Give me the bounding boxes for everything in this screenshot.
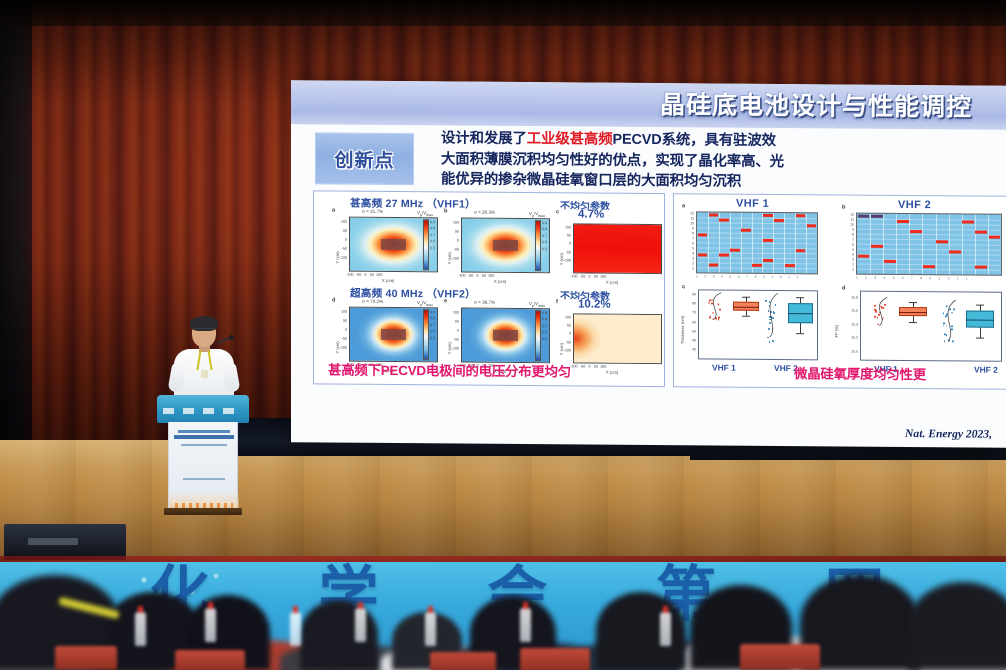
panel-letter-e: e <box>444 298 447 304</box>
panel-a-ylabel: Y (cm) <box>335 251 340 263</box>
water-bottle <box>660 612 671 646</box>
floor-monitor-speaker <box>4 524 126 560</box>
water-bottle <box>425 612 436 646</box>
panel-letter-grid-a: a <box>682 203 685 209</box>
panel-a-xticks: -100 -50 0 50 100 <box>346 273 382 277</box>
innovation-badge-label: 创新点 <box>334 145 394 172</box>
audience-head <box>300 600 378 670</box>
panel-e-cbar-title: Vp/Vmax <box>529 301 545 308</box>
grid-heatmap-vhf1 <box>696 211 818 274</box>
panel-e-sigma: σ = 36.7% <box>474 300 495 305</box>
panel-c-uniformity: 4.7% <box>578 208 604 220</box>
panel-letter-grid-b: b <box>842 205 845 211</box>
figure-left-panel: 甚高频 27 MHz （VHF1） 不均匀参数 a σ = 21.7% 1005… <box>313 190 665 387</box>
chair-back <box>175 650 245 670</box>
boxplot-c-group-1: VHF 1 <box>712 362 736 372</box>
microphone-icon <box>229 335 234 340</box>
heatmap-panel-a: a σ = 21.7% 100500-50-100 Y (cm) -100 -5… <box>332 208 440 281</box>
panel-d-sigma: σ = 70.2% <box>362 299 383 304</box>
panel-f-xlabel: X (cm) <box>606 370 618 375</box>
panel-b-cbar-title: Vp/Vmax <box>529 211 545 218</box>
body-highlight: 工业级甚高频 <box>527 131 613 148</box>
grid-a-xticks: 1234567891011 <box>696 274 805 279</box>
boxplot-ff <box>860 291 1002 362</box>
boxplot-thickness <box>698 289 818 360</box>
panel-b-xlabel: X (cm) <box>494 279 506 284</box>
boxplot-d-yticks: 25.825.625.425.225.0 <box>836 291 858 358</box>
panel-b-sigma: σ = 20.3% <box>474 210 495 215</box>
chair-back <box>520 648 590 670</box>
heatmap-panel-b: b σ = 20.3% 100500-50-100 Y (cm) -100 -5… <box>444 208 552 281</box>
water-bottle <box>355 608 366 642</box>
projection-screen: 晶硅底电池设计与性能调控 创新点 设计和发展了工业级甚高频PECVD系统，具有驻… <box>291 80 1006 448</box>
chair-back <box>430 652 496 670</box>
podium <box>157 395 249 513</box>
panel-d-ylabel: Y (cm) <box>335 341 340 353</box>
water-bottle <box>290 612 301 646</box>
panel-letter-a: a <box>332 208 335 214</box>
panel-d-cbar-ticks: 0.90.80.70.60.5 <box>430 309 435 341</box>
chair-back <box>740 644 820 670</box>
panel-c-xticks: -100 -50 0 50 100 <box>570 274 606 278</box>
panel-c-xlabel: X (cm) <box>606 280 618 285</box>
panel-d-cbar-title: Vp/Vmax <box>417 300 433 307</box>
boxplot-d-ylabel: FF (%) <box>834 325 839 338</box>
figure-left-caption: 甚高频下PECVD电极间的电压分布更均匀 <box>328 358 571 380</box>
boxplot-d-group-2: VHF 2 <box>974 365 998 375</box>
grid-b-title: VHF 2 <box>898 199 931 211</box>
panel-b-cbar-ticks: 0.90.80.70.60.5 <box>542 220 547 252</box>
slide-header-bar: 晶硅底电池设计与性能调控 <box>291 80 1006 130</box>
glasses-icon <box>194 328 214 332</box>
water-bottle <box>520 608 531 642</box>
grid-a-yticks: 121110987654321 <box>680 211 694 271</box>
panel-letter-b: b <box>444 208 447 214</box>
panel-a-xlabel: X (cm) <box>382 278 394 283</box>
water-bottle <box>205 608 216 642</box>
grid-heatmap-vhf2 <box>856 213 1002 276</box>
panel-a-cbar-title: Vp/Vmax <box>417 210 433 217</box>
panel-letter-c: c <box>556 209 559 215</box>
panel-f-uniformity: 10.2% <box>578 298 611 310</box>
panel-e-cbar-ticks: 0.90.80.70.60.5 <box>542 310 547 342</box>
heatmap-panel-c: c 4.7% 100500-50-100 Y (cm) -100 -50 0 5… <box>556 209 664 282</box>
presentation-photo-scene: 晶硅底电池设计与性能调控 创新点 设计和发展了工业级甚高频PECVD系统，具有驻… <box>0 0 1006 670</box>
figure-right-caption: 微晶硅氧厚度均匀性更 <box>794 362 926 383</box>
water-bottle <box>135 612 146 646</box>
slide-reference-citation: Nat. Energy 2023, <box>905 427 992 441</box>
chair-back <box>55 646 117 670</box>
panel-f-ylabel: Y (cm) <box>559 343 564 355</box>
panel-c-ylabel: Y (cm) <box>559 253 564 265</box>
boxplot-c-ylabel: Thickness (nm) <box>680 316 685 345</box>
podium-sponsor-logos <box>163 408 243 414</box>
audience-head <box>596 592 686 670</box>
name-badge <box>201 370 208 378</box>
panel-letter-f: f <box>556 299 558 305</box>
panel-e-ylabel: Y (cm) <box>447 342 452 354</box>
body-line-3: 能优异的掺杂微晶硅氧窗口层的大面积均匀沉积 <box>441 170 1006 195</box>
panel-b-xticks: -100 -50 0 50 100 <box>458 274 494 278</box>
grid-b-yticks: 121110987654321 <box>840 213 854 273</box>
figure-right-panel: a VHF 1 121110987654321 1234567891011 b … <box>673 193 1006 390</box>
innovation-badge: 创新点 <box>315 132 414 185</box>
audience-head <box>908 582 1006 670</box>
slide-body-text: 设计和发展了工业级甚高频PECVD系统，具有驻波效 大面积薄膜沉积均匀性好的优点… <box>441 128 1006 194</box>
panel-a-cbar-ticks: 0.90.80.70.60.5 <box>430 219 435 251</box>
panel-f-xticks: -100 -50 0 50 100 <box>570 364 606 368</box>
panel-letter-d: d <box>332 298 335 304</box>
grid-a-title: VHF 1 <box>736 198 769 210</box>
slide-title: 晶硅底电池设计与性能调控 <box>660 93 1006 121</box>
grid-b-xticks: 1234567891011 <box>856 276 975 281</box>
panel-b-ylabel: Y (cm) <box>447 252 452 264</box>
speaker-person <box>168 318 240 402</box>
panel-a-sigma: σ = 21.7% <box>362 209 383 214</box>
heatmap-panel-f: f 10.2% 100500-50-100 Y (cm) -100 -50 0 … <box>556 299 664 372</box>
